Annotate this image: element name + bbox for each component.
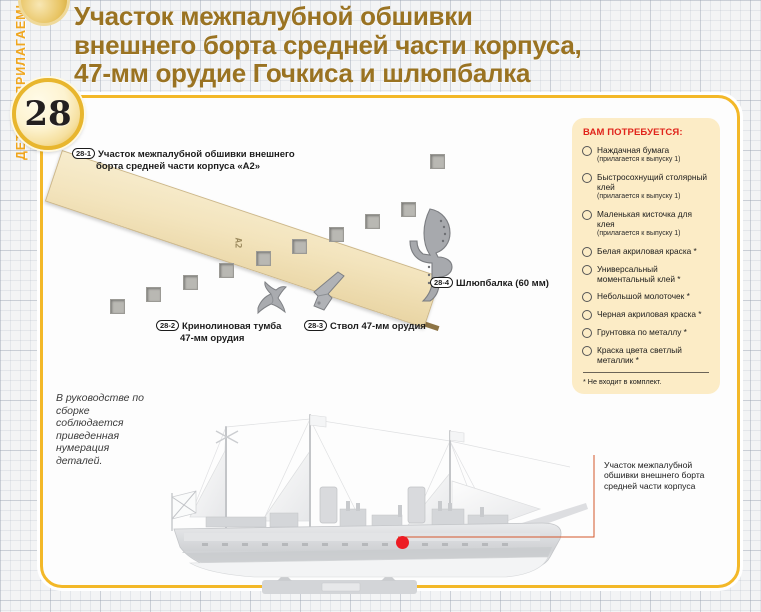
requirement-sublabel: (прилагается к выпуску 1) — [597, 192, 711, 202]
plank-slot — [430, 154, 445, 169]
requirement-checkbox-circle-icon[interactable] — [582, 173, 592, 183]
part-28-2-number: 28-2 — [156, 320, 179, 331]
part-28-2-callout: 28-2Кринолиновая тумба 47-мм орудия — [156, 320, 296, 344]
requirement-checkbox-circle-icon[interactable] — [582, 292, 592, 302]
requirement-label: Маленькая кисточка для клея(прилагается … — [597, 209, 711, 239]
part-28-2-label-line2: 47-мм орудия — [180, 333, 244, 345]
requirement-label: Черная акриловая краска * — [597, 309, 702, 319]
part-28-3-callout: 28-3Ствол 47-мм орудия — [304, 320, 454, 333]
plank-slot — [110, 299, 125, 314]
page-title-line-1: Участок межпалубной обшивки — [74, 2, 714, 31]
plank-part-marking: A2 — [232, 238, 242, 249]
part-28-3-gun-barrel-illustration — [308, 270, 346, 315]
part-28-1-number: 28-1 — [72, 148, 95, 159]
plank-slot — [329, 227, 344, 242]
page-title-line-2: внешнего борта средней части корпуса, — [74, 31, 714, 60]
requirement-item[interactable]: Белая акриловая краска * — [581, 246, 711, 257]
part-28-2-label-line1: Кринолиновая тумба — [182, 321, 281, 332]
requirement-item[interactable]: Небольшой молоточек * — [581, 291, 711, 302]
part-28-1-label-line1: Участок межпалубной обшивки внешнего — [98, 149, 295, 160]
plank-slot — [219, 263, 234, 278]
part-28-1-label-line2: борта средней части корпуса «A2» — [96, 161, 260, 173]
requirement-label: Краска цвета светлый металлик * — [597, 345, 711, 365]
plank-slot — [183, 275, 198, 290]
requirement-checkbox-circle-icon[interactable] — [582, 310, 592, 320]
ship-callout-label: Участок межпалубной обшивки внешнего бор… — [604, 460, 724, 491]
requirement-checkbox-circle-icon[interactable] — [582, 328, 592, 338]
page-title-line-3: 47-мм орудие Гочкиса и шлюпбалка — [74, 59, 714, 88]
requirements-divider — [583, 372, 709, 373]
assembly-numbering-note: В руководстве по сборке соблюдается прив… — [56, 392, 156, 467]
issue-number-value: 28 — [24, 97, 71, 131]
requirements-list: Наждачная бумага(прилагается к выпуску 1… — [581, 145, 711, 365]
part-28-2-crinoline-mount-illustration — [252, 278, 292, 316]
requirement-item[interactable]: Черная акриловая краска * — [581, 309, 711, 320]
requirement-checkbox-circle-icon[interactable] — [582, 210, 592, 220]
requirements-panel: ВАМ ПОТРЕБУЕТСЯ: Наждачная бумага(прилаг… — [572, 118, 720, 394]
requirement-label: Универсальный моментальный клей * — [597, 264, 711, 284]
part-28-3-number: 28-3 — [304, 320, 327, 331]
requirement-sublabel: (прилагается к выпуску 1) — [597, 229, 711, 239]
requirement-item[interactable]: Быстросохнущий столярный клей(прилагаетс… — [581, 172, 711, 202]
requirement-label: Небольшой молоточек * — [597, 291, 690, 301]
requirement-label: Белая акриловая краска * — [597, 246, 697, 256]
requirements-heading: ВАМ ПОТРЕБУЕТСЯ: — [583, 127, 711, 138]
requirement-label: Грунтовка по металлу * — [597, 327, 687, 337]
ship-callout-red-dot — [396, 536, 409, 549]
requirement-checkbox-circle-icon[interactable] — [582, 146, 592, 156]
part-28-4-label-line1: Шлюпбалка (60 мм) — [456, 278, 549, 289]
part-28-4-davit-illustration — [396, 205, 456, 305]
requirement-item[interactable]: Грунтовка по металлу * — [581, 327, 711, 338]
requirement-checkbox-circle-icon[interactable] — [582, 265, 592, 275]
part-28-4-callout: 28-4Шлюпбалка (60 мм) — [430, 277, 560, 290]
requirement-item[interactable]: Универсальный моментальный клей * — [581, 264, 711, 284]
requirements-footnote: * Не входит в комплект. — [583, 377, 711, 386]
ship-callout-leader-line — [398, 455, 606, 550]
plank-slot — [365, 214, 380, 229]
part-28-1-callout: 28-1Участок межпалубной обшивки внешнего… — [72, 148, 322, 172]
requirement-checkbox-circle-icon[interactable] — [582, 346, 592, 356]
part-28-4-number: 28-4 — [430, 277, 453, 288]
issue-number-badge: 28 — [12, 78, 84, 150]
requirement-item[interactable]: Краска цвета светлый металлик * — [581, 345, 711, 365]
plank-slot — [292, 239, 307, 254]
requirement-sublabel: (прилагается к выпуску 1) — [597, 155, 681, 165]
page-title: Участок межпалубной обшивки внешнего бор… — [74, 2, 714, 88]
part-28-3-label-line1: Ствол 47-мм орудия — [330, 321, 426, 332]
requirement-item[interactable]: Наждачная бумага(прилагается к выпуску 1… — [581, 145, 711, 165]
plank-slot — [146, 287, 161, 302]
plank-board — [45, 150, 441, 328]
requirement-item[interactable]: Маленькая кисточка для клея(прилагается … — [581, 209, 711, 239]
plank-slot — [256, 251, 271, 266]
requirement-checkbox-circle-icon[interactable] — [582, 247, 592, 257]
requirement-label: Быстросохнущий столярный клей(прилагаетс… — [597, 172, 711, 202]
requirement-label: Наждачная бумага(прилагается к выпуску 1… — [597, 145, 681, 165]
